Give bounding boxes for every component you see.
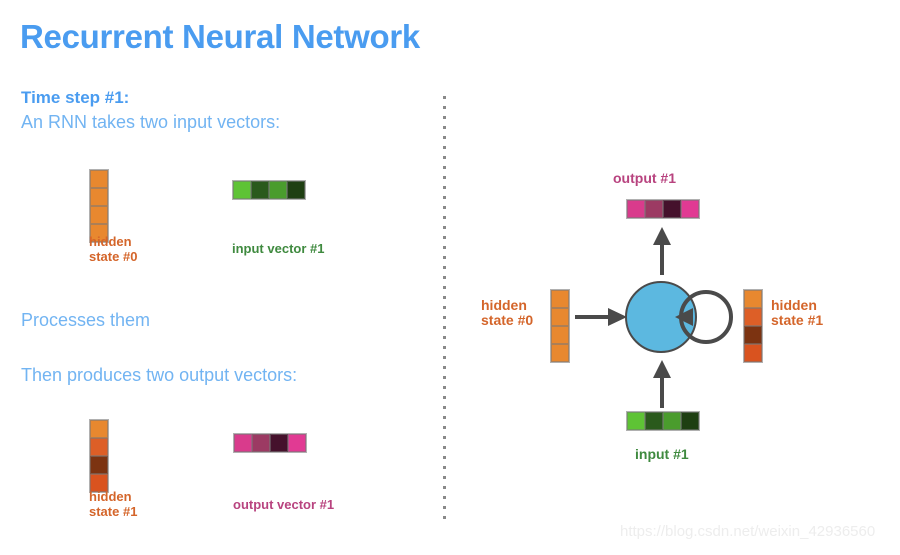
arrow-up-from-input-icon: [646, 360, 678, 408]
watermark: https://blog.csdn.net/weixin_42936560: [620, 523, 875, 540]
vector-cell: [663, 200, 681, 218]
vector-cell: [270, 434, 288, 452]
rnn-diagram-panel: output #1 hidden state #0 hidden state #…: [440, 0, 900, 555]
vector-cell: [551, 308, 569, 326]
vector-cell: [744, 308, 762, 326]
arrow-up-icon: [646, 227, 678, 275]
arrow-right-icon: [575, 300, 627, 334]
vector-cell: [251, 181, 269, 199]
diagram-output-vector: [626, 199, 700, 219]
processes-them-text: Processes them: [21, 310, 150, 331]
diagram-input-vector: [626, 411, 700, 431]
time-step-heading: Time step #1:: [21, 88, 129, 108]
vector-cell: [233, 181, 251, 199]
vector-cell: [287, 181, 305, 199]
vector-cell: [90, 456, 108, 474]
vector-cell: [90, 170, 108, 188]
vector-cell: [90, 206, 108, 224]
recurrent-loop-icon: [673, 286, 735, 348]
diagram-input-label: input #1: [635, 447, 689, 462]
vector-cell: [645, 412, 663, 430]
vector-cell: [234, 434, 252, 452]
vector-cell: [90, 188, 108, 206]
output-vector-1: [233, 433, 307, 453]
input-vector-1: [232, 180, 306, 200]
vector-cell: [744, 290, 762, 308]
vector-cell: [681, 200, 699, 218]
input-vector-1-label: input vector #1: [232, 241, 324, 256]
output-vector-1-label: output vector #1: [233, 497, 334, 512]
hidden-state-0-vector: [89, 169, 109, 243]
vector-cell: [681, 412, 699, 430]
vector-cell: [551, 326, 569, 344]
time-step-subtitle: An RNN takes two input vectors:: [21, 112, 280, 133]
vector-cell: [744, 326, 762, 344]
diagram-output-label: output #1: [613, 171, 676, 186]
hidden-state-1-label: hidden state #1: [89, 489, 137, 519]
diagram-hidden-state-1-vector: [743, 289, 763, 363]
vector-cell: [627, 200, 645, 218]
diagram-hidden-state-0-label: hidden state #0: [481, 298, 533, 328]
left-explanation-panel: Time step #1: An RNN takes two input vec…: [0, 0, 440, 555]
vector-cell: [90, 438, 108, 456]
produces-outputs-text: Then produces two output vectors:: [21, 365, 297, 386]
vector-cell: [645, 200, 663, 218]
hidden-state-1-vector: [89, 419, 109, 493]
vector-cell: [663, 412, 681, 430]
vector-cell: [744, 344, 762, 362]
vector-cell: [551, 290, 569, 308]
diagram-hidden-state-1-label: hidden state #1: [771, 298, 823, 328]
hidden-state-0-label: hidden state #0: [89, 234, 137, 264]
vector-cell: [90, 420, 108, 438]
vector-cell: [551, 344, 569, 362]
vector-cell: [269, 181, 287, 199]
vector-cell: [627, 412, 645, 430]
vector-cell: [252, 434, 270, 452]
vector-cell: [288, 434, 306, 452]
diagram-hidden-state-0-vector: [550, 289, 570, 363]
